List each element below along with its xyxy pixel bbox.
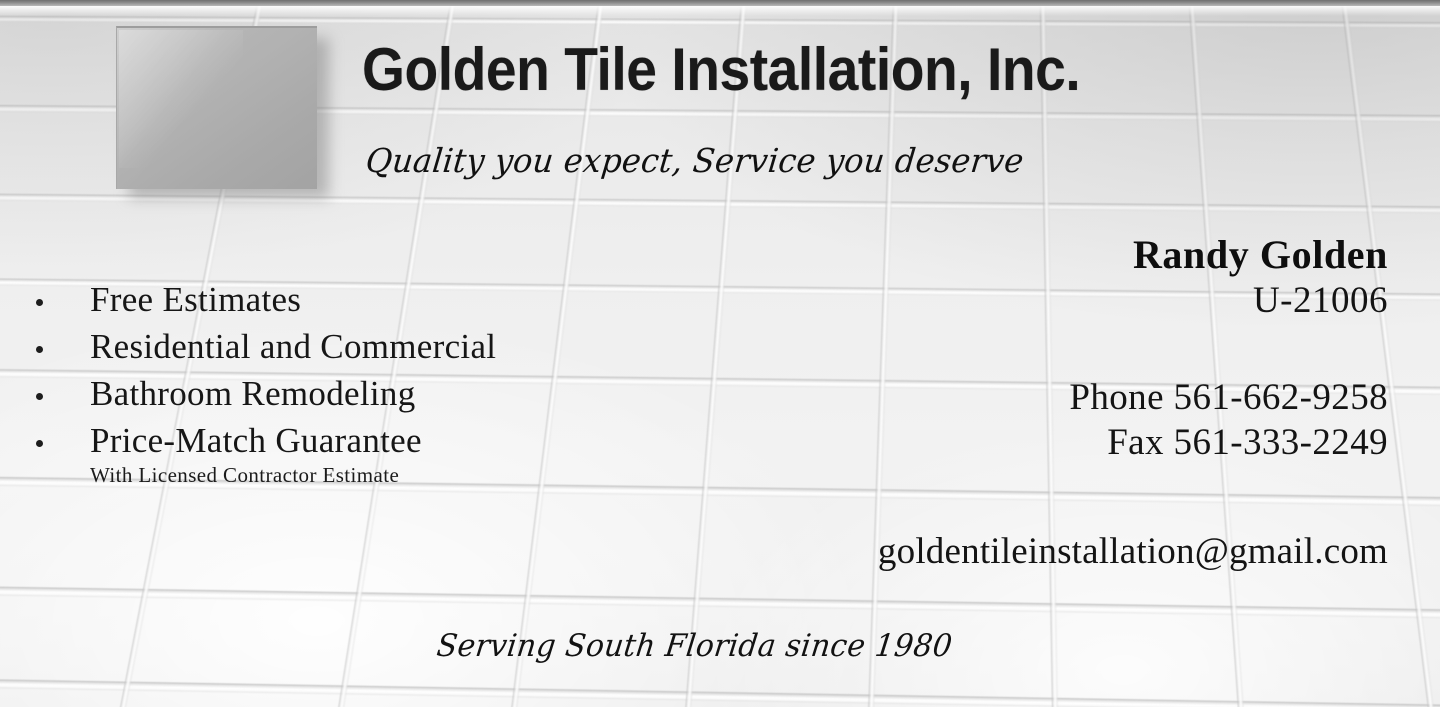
bullet-icon [36, 346, 43, 353]
business-card: Golden Tile Installation, Inc. Quality y… [0, 0, 1440, 707]
services-list: Free Estimates Residential and Commercia… [36, 278, 656, 466]
card-content: Golden Tile Installation, Inc. Quality y… [0, 0, 1440, 707]
service-label: Free Estimates [90, 278, 301, 322]
contact-person-name: Randy Golden [1133, 232, 1388, 278]
service-label: Bathroom Remodeling [90, 372, 416, 416]
services-note: With Licensed Contractor Estimate [90, 463, 399, 488]
tagline: Quality you expect, Service you deserve [364, 141, 1026, 180]
list-item: Price-Match Guarantee [36, 419, 656, 466]
list-item: Residential and Commercial [36, 325, 656, 372]
list-item: Free Estimates [36, 278, 656, 325]
list-item: Bathroom Remodeling [36, 372, 656, 419]
service-label: Price-Match Guarantee [90, 419, 422, 463]
email-address[interactable]: goldentileinstallation@gmail.com [878, 530, 1388, 573]
phone-number[interactable]: Phone 561-662-9258 [1069, 375, 1388, 420]
phone-block: Phone 561-662-9258 Fax 561-333-2249 [1069, 375, 1388, 465]
footer-slogan: Serving South Florida since 1980 [435, 628, 954, 664]
bullet-icon [36, 299, 43, 306]
company-name: Golden Tile Installation, Inc. [362, 35, 1080, 104]
contact-block: Randy Golden U-21006 [1133, 232, 1388, 324]
bullet-icon [36, 440, 43, 447]
service-label: Residential and Commercial [90, 325, 496, 369]
bullet-icon [36, 393, 43, 400]
fax-number: Fax 561-333-2249 [1069, 420, 1388, 465]
license-number: U-21006 [1133, 278, 1388, 324]
